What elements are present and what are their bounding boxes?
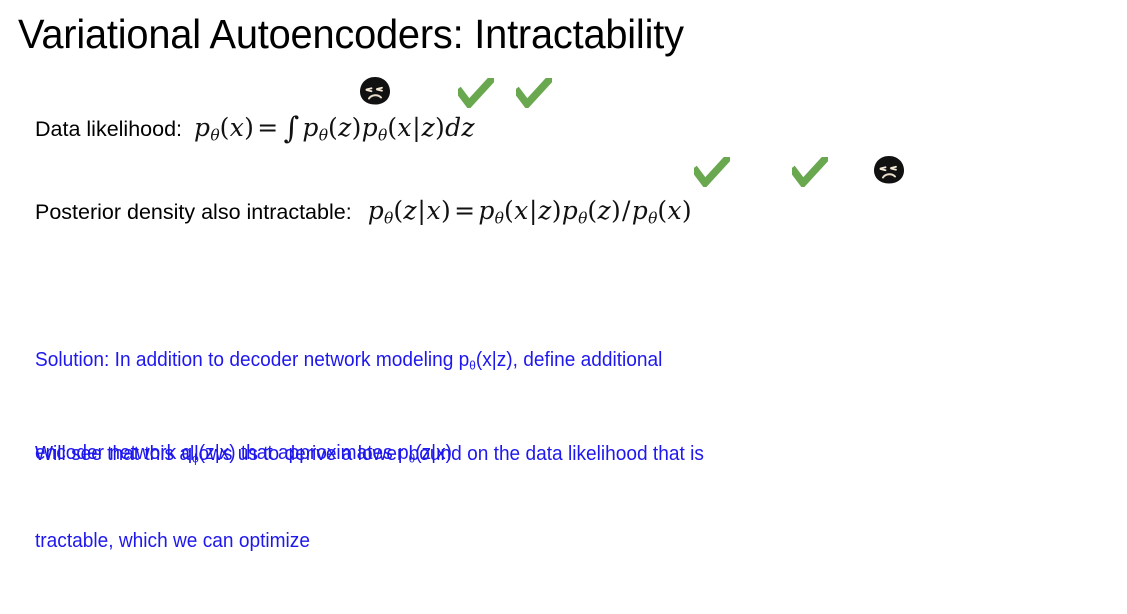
data-likelihood-label: Data likelihood: — [35, 116, 182, 142]
eq1-open3: ( — [387, 113, 397, 142]
lower-bound-line-2: tractable, which we can optimize — [35, 527, 704, 556]
eq2-sub2: θ — [495, 209, 504, 227]
eq1-sub2: θ — [319, 126, 328, 144]
eq1-equals: = — [254, 113, 281, 142]
eq2-close2: ) — [552, 196, 562, 225]
integral-symbol: ∫ — [281, 111, 302, 146]
check-icon — [694, 157, 730, 187]
eq1-bar: | — [412, 113, 422, 142]
eq1-p1: p — [194, 113, 210, 142]
eq1-p3: p — [362, 113, 378, 142]
eq2-x2: x — [514, 196, 528, 225]
eq2-equals: = — [451, 196, 478, 225]
eq2-sub1: θ — [384, 209, 393, 227]
data-likelihood-line: Data likelihood: pθ(x)=∫pθ(z)pθ(x|z)dz — [35, 112, 475, 150]
eq2-p1: p — [368, 196, 384, 225]
eq1-x2: x — [397, 113, 411, 142]
eq2-open3: ( — [587, 196, 597, 225]
eq2-z2: z — [538, 196, 551, 225]
lower-bound-line-1: Will see that this allows us to derive a… — [35, 440, 704, 469]
posterior-density-equation: pθ(z|x)=pθ(x|z)pθ(z)/pθ(x) — [368, 196, 692, 233]
eq2-bar1: | — [417, 196, 427, 225]
eq2-close3: ) — [611, 196, 621, 225]
eq1-open2: ( — [328, 113, 338, 142]
eq1-sub3: θ — [378, 126, 387, 144]
eq2-x3: x — [667, 196, 681, 225]
eq1-z2: z — [422, 113, 435, 142]
eq2-bar2: | — [528, 196, 538, 225]
eq2-p2: p — [478, 196, 494, 225]
eq1-z1: z — [338, 113, 351, 142]
eq2-close1: ) — [441, 196, 451, 225]
check-icon — [516, 78, 552, 108]
sad-face-icon — [872, 155, 906, 185]
solution-line-1-a: Solution: In addition to decoder network… — [35, 349, 469, 371]
check-icon — [792, 157, 828, 187]
eq1-sub1: θ — [210, 126, 219, 144]
eq2-open2: ( — [504, 196, 514, 225]
eq2-slash: / — [621, 196, 632, 225]
solution-line-1-b: (x|z), define additional — [476, 349, 663, 371]
eq1-close1: ) — [244, 113, 254, 142]
eq2-sub3: θ — [578, 209, 587, 227]
data-likelihood-equation: pθ(x)=∫pθ(z)pθ(x|z)dz — [194, 112, 475, 150]
eq1-x1: x — [230, 113, 244, 142]
eq1-open1: ( — [220, 113, 230, 142]
eq2-open4: ( — [657, 196, 667, 225]
eq2-close4: ) — [682, 196, 692, 225]
check-icon — [458, 78, 494, 108]
page-title: Variational Autoencoders: Intractability — [18, 8, 684, 60]
eq2-sub4: θ — [648, 209, 657, 227]
eq2-z3: z — [597, 196, 610, 225]
posterior-density-line: Posterior density also intractable: pθ(z… — [35, 196, 692, 233]
sad-face-icon — [358, 76, 392, 106]
slide-canvas: Variational Autoencoders: Intractability… — [0, 0, 1127, 529]
eq1-dz: dz — [445, 113, 475, 142]
solution-line-1: Solution: In addition to decoder network… — [35, 346, 662, 381]
eq1-close3: ) — [435, 113, 445, 142]
eq1-close2: ) — [352, 113, 362, 142]
eq2-x1: x — [427, 196, 441, 225]
eq2-z1: z — [403, 196, 416, 225]
eq2-p3: p — [562, 196, 578, 225]
eq1-p2: p — [302, 113, 318, 142]
lower-bound-paragraph: Will see that this allows us to derive a… — [35, 382, 704, 614]
posterior-density-label: Posterior density also intractable: — [35, 199, 352, 225]
eq2-p4: p — [632, 196, 648, 225]
eq2-open1: ( — [393, 196, 403, 225]
